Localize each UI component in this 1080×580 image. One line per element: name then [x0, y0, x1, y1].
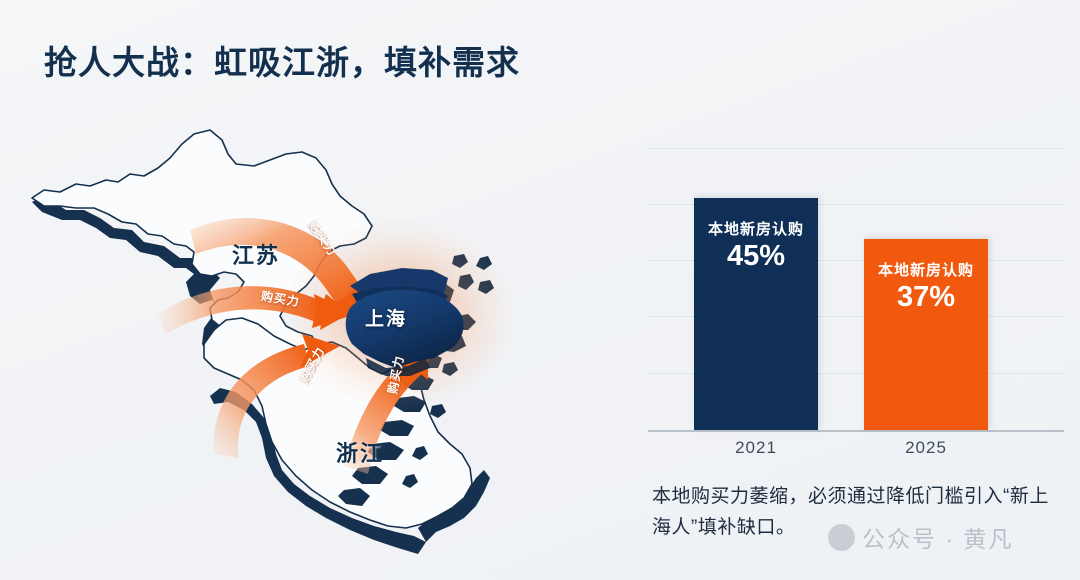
x-tick-2025: 2025 [864, 438, 988, 458]
bar-value-2025: 37% [864, 281, 988, 314]
bar-2021[interactable]: 本地新房认购 45% [694, 198, 818, 430]
map-illustration: 江苏 浙江 上海 购买力 购买力 购买力 购买力 [14, 118, 614, 573]
bar-caption-2025: 本地新房认购 [864, 259, 988, 280]
bars-container: 本地新房认购 45% 本地新房认购 37% [648, 146, 1064, 430]
page-title: 抢人大战：虹吸江浙，填补需求 [44, 36, 520, 84]
x-tick-2021: 2021 [694, 438, 818, 458]
bar-2025[interactable]: 本地新房认购 37% [864, 239, 988, 430]
slide-root: 抢人大战：虹吸江浙，填补需求 [0, 0, 1080, 580]
chart-caption: 本地购买力萎缩，必须通过降低门槛引入“新上海人”填补缺口。 [652, 482, 1064, 544]
bar-chart: 本地新房认购 45% 本地新房认购 37% 2021 2025 [648, 146, 1064, 446]
x-axis-line [648, 430, 1064, 432]
map-svg [14, 118, 614, 573]
bar-caption-2021: 本地新房认购 [694, 218, 818, 239]
bar-value-2021: 45% [694, 240, 818, 273]
